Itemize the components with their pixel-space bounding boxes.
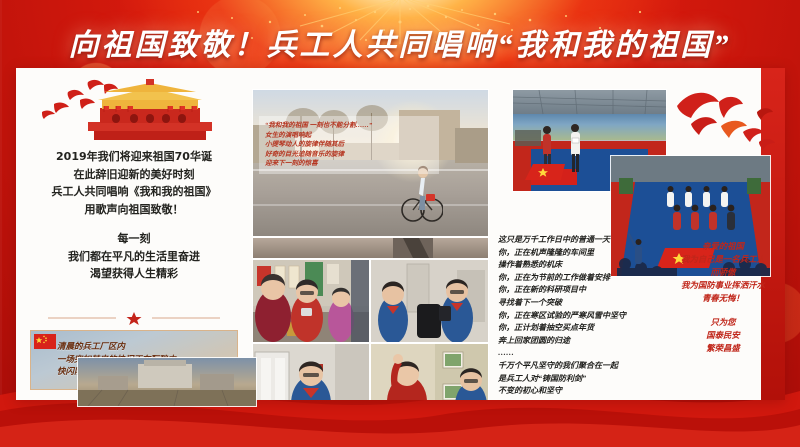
right-line: 青春无悔！ — [648, 292, 785, 305]
tiananmen-gate-illustration — [28, 76, 240, 142]
center-line: 寻找着下一个突破 — [498, 297, 668, 310]
center-line: 你，正在新的科研项目中 — [498, 284, 668, 297]
factory-campus-photo — [78, 358, 256, 406]
right-line: 国泰民安 — [648, 329, 785, 342]
waving-woman-and-worker-photo: 我和我的 祖国 — [371, 344, 488, 400]
center-line: …… — [498, 347, 668, 360]
sub-line: 渴望获得人生精彩 — [24, 265, 244, 283]
right-line: 我为自己是一名兵工人 — [648, 253, 785, 266]
overlay-line: “我和我的祖国 一刻也不能分割……” — [265, 121, 433, 131]
lead-line: 用歌声向祖国致敬！ — [24, 201, 244, 219]
poster-root: 向祖国致敬！兵工人共同唱响“我和我的祖国” — [0, 0, 800, 447]
center-line: 你，正在机声隆隆的车间里 — [498, 247, 668, 260]
center-line: 千万个平凡坚守的我们聚合在一起 — [498, 360, 668, 373]
right-line: 亲爱的祖国 — [648, 240, 785, 253]
photo-overlay-text: “我和我的祖国 一刻也不能分割……” 女生的演唱响起 小提琴动人的旋律伴随其后 … — [259, 116, 439, 174]
right-line: 而骄傲 — [648, 266, 785, 279]
lead-line: 兵工人共同唱响《我和我的祖国》 — [24, 183, 244, 201]
center-line: 操作着熟悉的机床 — [498, 259, 668, 272]
left-column: 2019年我们将迎来祖国70华诞 在此辞旧迎新的美好时刻 兵工人共同唱响《我和我… — [16, 68, 252, 400]
right-line: 只为您 — [648, 316, 785, 329]
elderly-women-singing-photo — [253, 260, 369, 342]
overlay-line: 迎来下一刻的惊喜 — [265, 159, 433, 169]
right-line: 我为国防事业挥洒汗水 — [648, 279, 785, 292]
header-band: 向祖国致敬！兵工人共同唱响“我和我的祖国” — [0, 0, 800, 72]
worker-at-machine-photo — [253, 344, 369, 400]
content-panel: 2019年我们将迎来祖国70华诞 在此辞旧迎新的美好时刻 兵工人共同唱响《我和我… — [16, 68, 785, 400]
lead-line: 在此辞旧迎新的美好时刻 — [24, 166, 244, 184]
red-dove-flock-right — [669, 84, 779, 162]
center-line: 你，正在寒区试验的严寒风雪中坚守 — [498, 310, 668, 323]
street-cyclist-photo: “我和我的祖国 一刻也不能分割……” 女生的演唱响起 小提琴动人的旋律伴随其后 … — [253, 90, 488, 236]
workshop-strip-photo — [253, 238, 488, 258]
center-line: 你，正计划着抽空买点年货 — [498, 322, 668, 335]
star-divider — [44, 311, 224, 325]
lead-paragraph: 2019年我们将迎来祖国70华诞 在此辞旧迎新的美好时刻 兵工人共同唱响《我和我… — [24, 148, 244, 283]
center-line: 你，正在为节前的工作做着安排 — [498, 272, 668, 285]
overlay-line: 女生的演唱响起 — [265, 131, 433, 141]
right-text-block: 亲爱的祖国 我为自己是一名兵工人 而骄傲 我为国防事业挥洒汗水 青春无悔！ 只为… — [648, 240, 785, 355]
caption-line: 清晨的兵工厂区内 — [57, 340, 176, 353]
sub-line: 我们都在平凡的生活里奋进 — [24, 248, 244, 266]
china-flag-icon — [34, 334, 56, 349]
overlay-line: 好奇的目光追随音乐的旋律 — [265, 150, 433, 160]
two-workers-blue-uniform-photo — [371, 260, 488, 342]
overlay-line: 小提琴动人的旋律伴随其后 — [265, 140, 433, 150]
red-star-icon — [127, 312, 142, 325]
page-title: 向祖国致敬！兵工人共同唱响“我和我的祖国” — [0, 20, 800, 64]
right-line: 繁荣昌盛 — [648, 342, 785, 355]
center-line: 奔上回家团圆的归途 — [498, 335, 668, 348]
center-text-block: 这只是万千工作日中的普通一天 你，正在机声隆隆的车间里 操作着熟悉的机床 你，正… — [498, 234, 668, 398]
lead-line: 2019年我们将迎来祖国70华诞 — [24, 148, 244, 166]
center-line: 不变的初心和坚守 — [498, 385, 668, 398]
center-line: 这只是万千工作日中的普通一天 — [498, 234, 668, 247]
center-line: 是兵工人对“铸国防利剑” — [498, 373, 668, 386]
sub-line: 每一刻 — [24, 230, 244, 248]
